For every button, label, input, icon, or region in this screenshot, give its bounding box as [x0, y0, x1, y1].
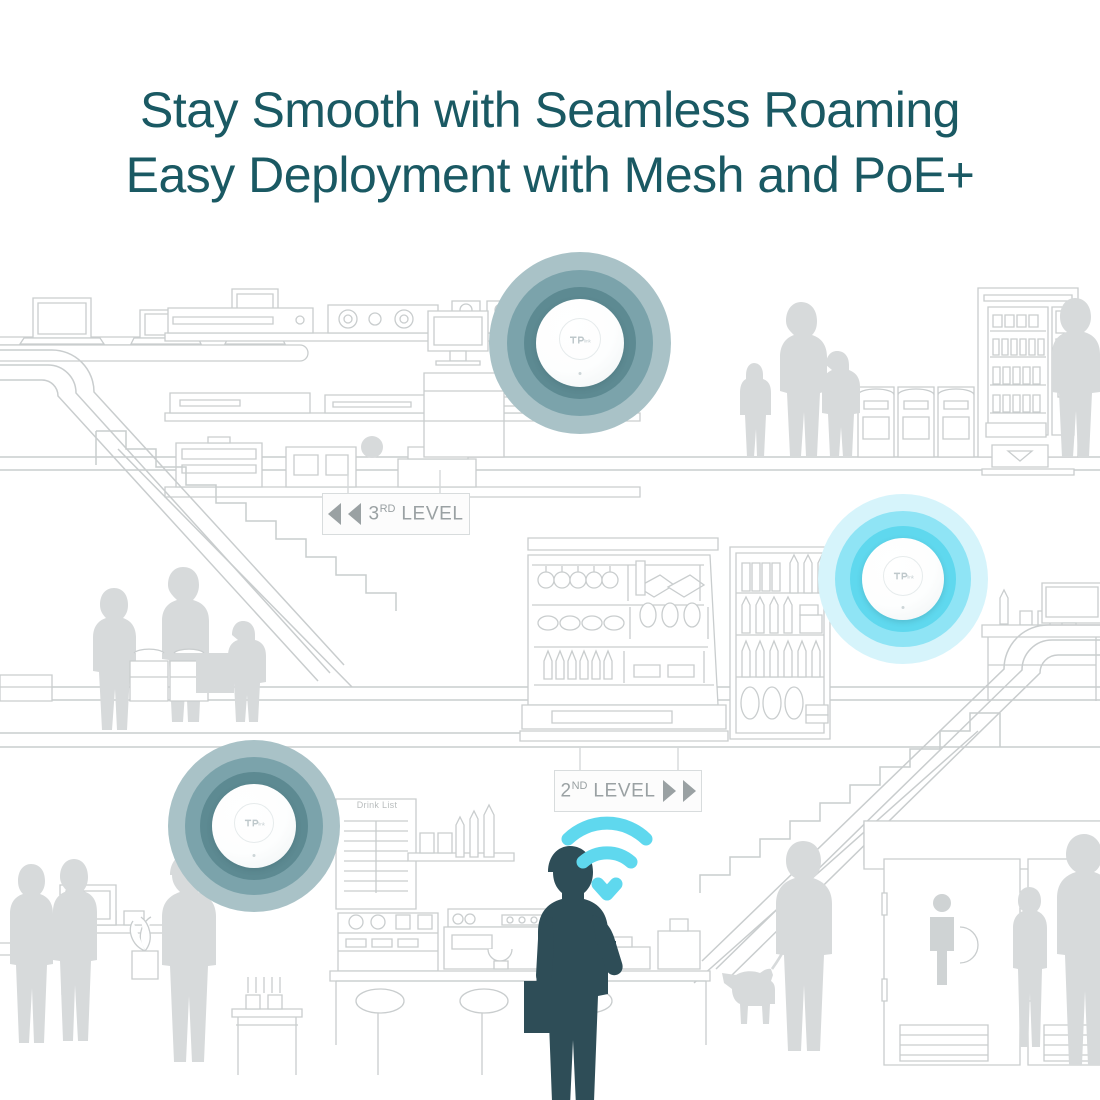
sign-3rd-level-label: 3RD LEVEL — [368, 503, 463, 525]
ap-logo-ring: link — [883, 556, 923, 596]
bottle-shelf-unit — [730, 547, 830, 739]
sign-2nd-level-label: 2ND LEVEL — [560, 780, 655, 802]
ap-status-led — [579, 372, 582, 375]
ap-status-led — [253, 854, 256, 857]
arrow-left-icon-2 — [348, 503, 361, 525]
access-point-1st-level[interactable]: link — [168, 740, 340, 912]
ap-logo-ring: link — [559, 318, 601, 360]
infographic-canvas: Stay Smooth with Seamless Roaming Easy D… — [0, 0, 1100, 1100]
access-point-3rd-level[interactable]: link — [489, 252, 671, 434]
arrow-right-icon-2 — [683, 780, 696, 802]
people-group-escalator — [93, 567, 266, 730]
floor-slab-3rd — [0, 457, 1100, 470]
sign-2nd-level[interactable]: 2ND LEVEL — [554, 770, 702, 812]
ap-body: link — [862, 538, 944, 620]
ap-body: link — [212, 784, 296, 868]
arrow-left-icon-1 — [328, 503, 341, 525]
ap-logo-ring: link — [234, 803, 274, 843]
cafe-menu-title: Drink List — [346, 800, 408, 810]
ap-status-led — [902, 606, 905, 609]
svg-text:link: link — [258, 822, 265, 827]
headline-line-1: Stay Smooth with Seamless Roaming — [0, 78, 1100, 143]
page-title: Stay Smooth with Seamless Roaming Easy D… — [0, 78, 1100, 208]
arrow-right-icon-1 — [663, 780, 676, 802]
access-point-2nd-level[interactable]: link — [818, 494, 988, 664]
tp-link-logo-icon: link — [568, 334, 592, 345]
grocery-chiller — [520, 538, 728, 741]
tp-link-logo-icon: link — [243, 817, 266, 828]
sign-3rd-level[interactable]: 3RD LEVEL — [322, 493, 470, 535]
headline-line-2: Easy Deployment with Mesh and PoE+ — [0, 143, 1100, 208]
svg-text:link: link — [907, 575, 914, 580]
ap-body: link — [536, 299, 624, 387]
tp-link-logo-icon: link — [892, 570, 915, 581]
trash-bins — [858, 387, 974, 457]
svg-text:link: link — [584, 338, 592, 343]
